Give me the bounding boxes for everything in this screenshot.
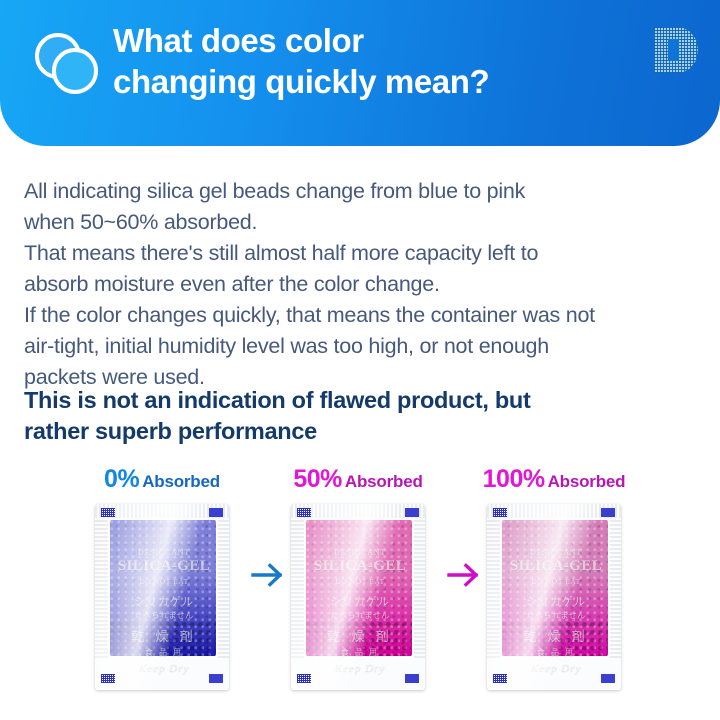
letter-d-halftone-logo	[654, 27, 698, 73]
packet-mark-bottom-left	[493, 674, 507, 683]
packet-mark-bottom-right	[601, 674, 615, 683]
stage-2-word: Absorbed	[548, 472, 626, 491]
bead-pile	[306, 621, 412, 656]
packet-beads-blue	[110, 520, 216, 656]
stage-2-percent: 100%	[483, 465, 545, 493]
stage-1-label: 50%Absorbed	[278, 466, 438, 496]
packet-mark-top-right	[601, 508, 615, 517]
stage-1-word: Absorbed	[345, 472, 423, 491]
packet-beads-pink	[306, 520, 412, 656]
arrow-blue-icon	[248, 558, 288, 592]
stage-2-label: 100%Absorbed	[474, 466, 634, 496]
packet-mark-bottom-left	[297, 674, 311, 683]
circle-front	[52, 48, 98, 94]
packet-mark-bottom-left	[101, 674, 115, 683]
packet-mark-top-left	[297, 508, 311, 517]
packet-mark-bottom-right	[405, 674, 419, 683]
absorption-stages: 0%Absorbed DESICCANT SILICA-GEL DO NOT E…	[62, 466, 662, 706]
conclusion-statement: This is not an indication of flawed prod…	[24, 385, 690, 447]
stage-1-percent-group: 50%Absorbed DESICCANT SILICA-GEL DO NOT …	[278, 466, 438, 690]
page-title: What does color changing quickly mean?	[113, 21, 623, 103]
bead-pile	[502, 621, 608, 656]
packet-mark-top-left	[493, 508, 507, 517]
stage-0-percent-group: 0%Absorbed DESICCANT SILICA-GEL DO NOT E…	[82, 466, 242, 690]
header-banner: What does color changing quickly mean?	[0, 0, 720, 146]
silica-gel-packet-magenta: DESICCANT SILICA-GEL DO NOT EAT シリカゲル たべ…	[487, 504, 621, 690]
packet-mark-top-right	[405, 508, 419, 517]
packet-mark-top-right	[209, 508, 223, 517]
stage-0-word: Absorbed	[142, 472, 220, 491]
silica-gel-packet-pink: DESICCANT SILICA-GEL DO NOT EAT シリカゲル たべ…	[291, 504, 425, 690]
two-overlapping-circles-icon	[33, 31, 109, 101]
silica-gel-packet-blue: DESICCANT SILICA-GEL DO NOT EAT シリカゲル たべ…	[95, 504, 229, 690]
body-paragraph: All indicating silica gel beads change f…	[24, 176, 690, 393]
stage-2-percent-group: 100%Absorbed DESICCANT SILICA-GEL DO NOT…	[474, 466, 634, 690]
d-counter	[668, 39, 679, 61]
packet-beads-magenta	[502, 520, 608, 656]
stage-1-percent: 50%	[293, 465, 342, 493]
bead-pile	[110, 621, 216, 656]
packet-mark-top-left	[101, 508, 115, 517]
stage-0-percent: 0%	[104, 465, 139, 493]
packet-mark-bottom-right	[209, 674, 223, 683]
arrow-magenta-icon	[444, 558, 484, 592]
stage-0-label: 0%Absorbed	[82, 466, 242, 496]
